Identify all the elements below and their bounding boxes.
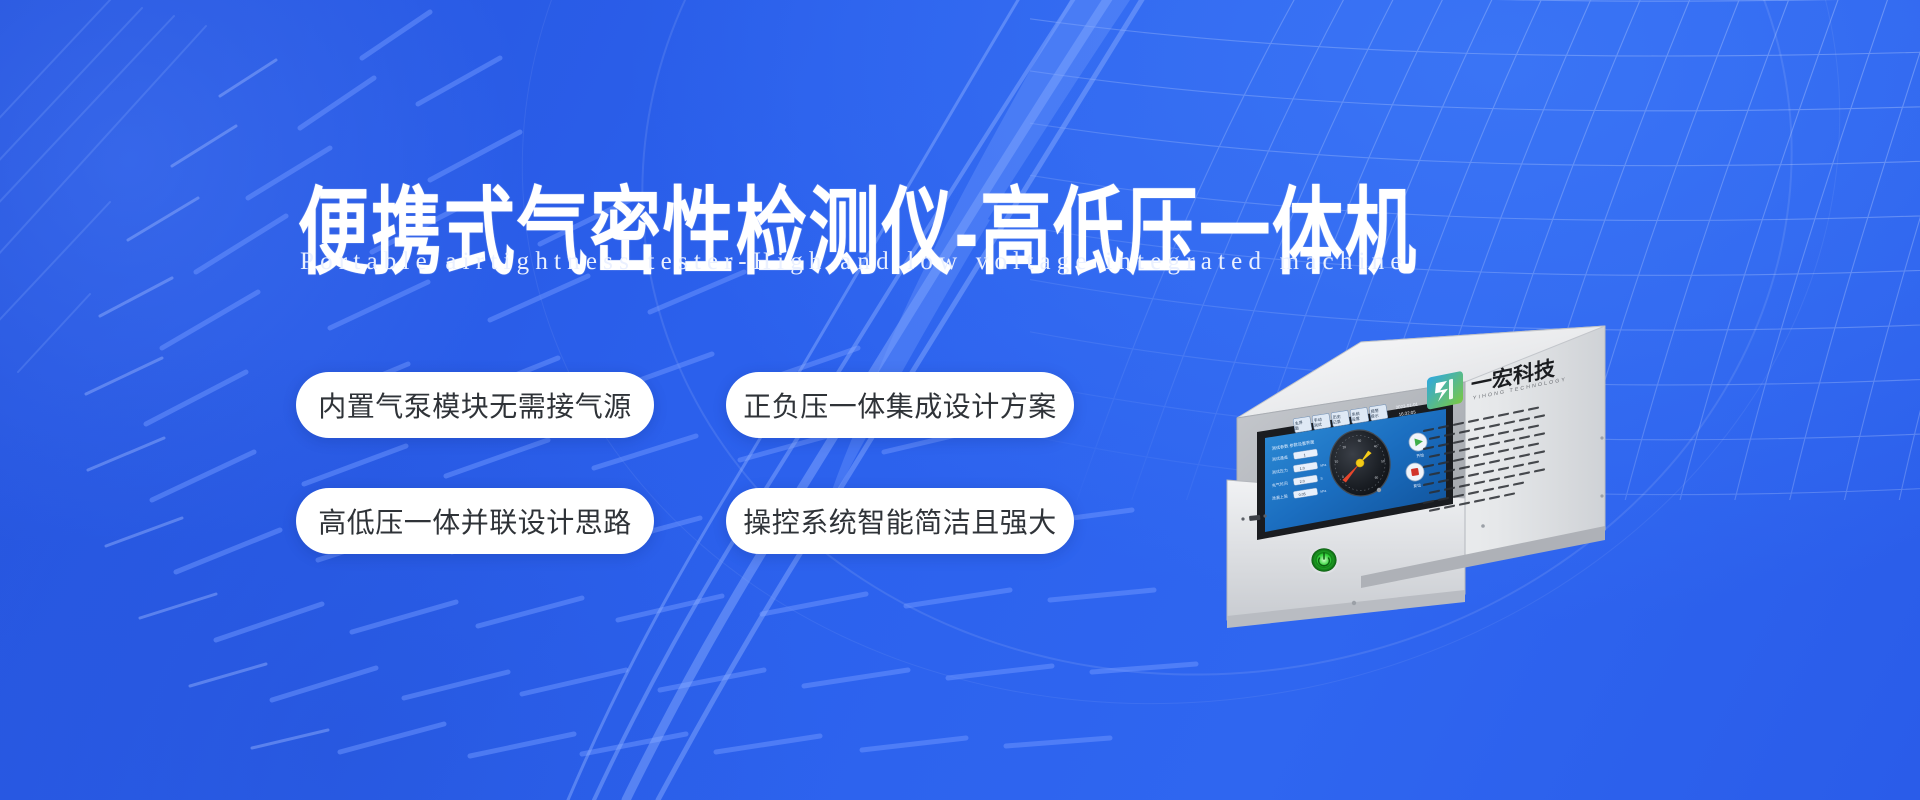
svg-text:记录: 记录: [1332, 418, 1341, 425]
feature-pill[interactable]: 高低压一体并联设计思路: [296, 488, 654, 554]
page-subtitle: Portable airtightness tester-High and lo…: [300, 248, 1408, 276]
feature-pill[interactable]: 内置气泵模块无需接气源: [296, 372, 654, 438]
product-device-image: 主界 面 手动 测试 历史 记录 系统 设置 报警 提示 2023-01-01 …: [1165, 320, 1645, 660]
feature-pill-row: 高低压一体并联设计思路 操控系统智能简洁且强大: [296, 488, 1116, 554]
hero-banner: 便携式气密性检测仪-高低压一体机 Portable airtightness t…: [0, 0, 1920, 800]
svg-text:2.0: 2.0: [1299, 479, 1305, 484]
svg-text:测试: 测试: [1313, 421, 1322, 428]
feature-pill-list: 内置气泵模块无需接气源 正负压一体集成设计方案 高低压一体并联设计思路 操控系统…: [296, 372, 1116, 604]
svg-text:设置: 设置: [1351, 415, 1360, 422]
stop-icon: [1411, 468, 1419, 476]
banner-content: 便携式气密性检测仪-高低压一体机 Portable airtightness t…: [0, 0, 1920, 800]
feature-pill[interactable]: 操控系统智能简洁且强大: [726, 488, 1074, 554]
feature-pill[interactable]: 正负压一体集成设计方案: [726, 372, 1074, 438]
svg-text:1.0: 1.0: [1299, 466, 1305, 471]
svg-text:提示: 提示: [1370, 412, 1379, 419]
svg-text:面: 面: [1294, 425, 1299, 431]
power-button[interactable]: [1309, 546, 1339, 574]
feature-pill-row: 内置气泵模块无需接气源 正负压一体集成设计方案: [296, 372, 1116, 438]
